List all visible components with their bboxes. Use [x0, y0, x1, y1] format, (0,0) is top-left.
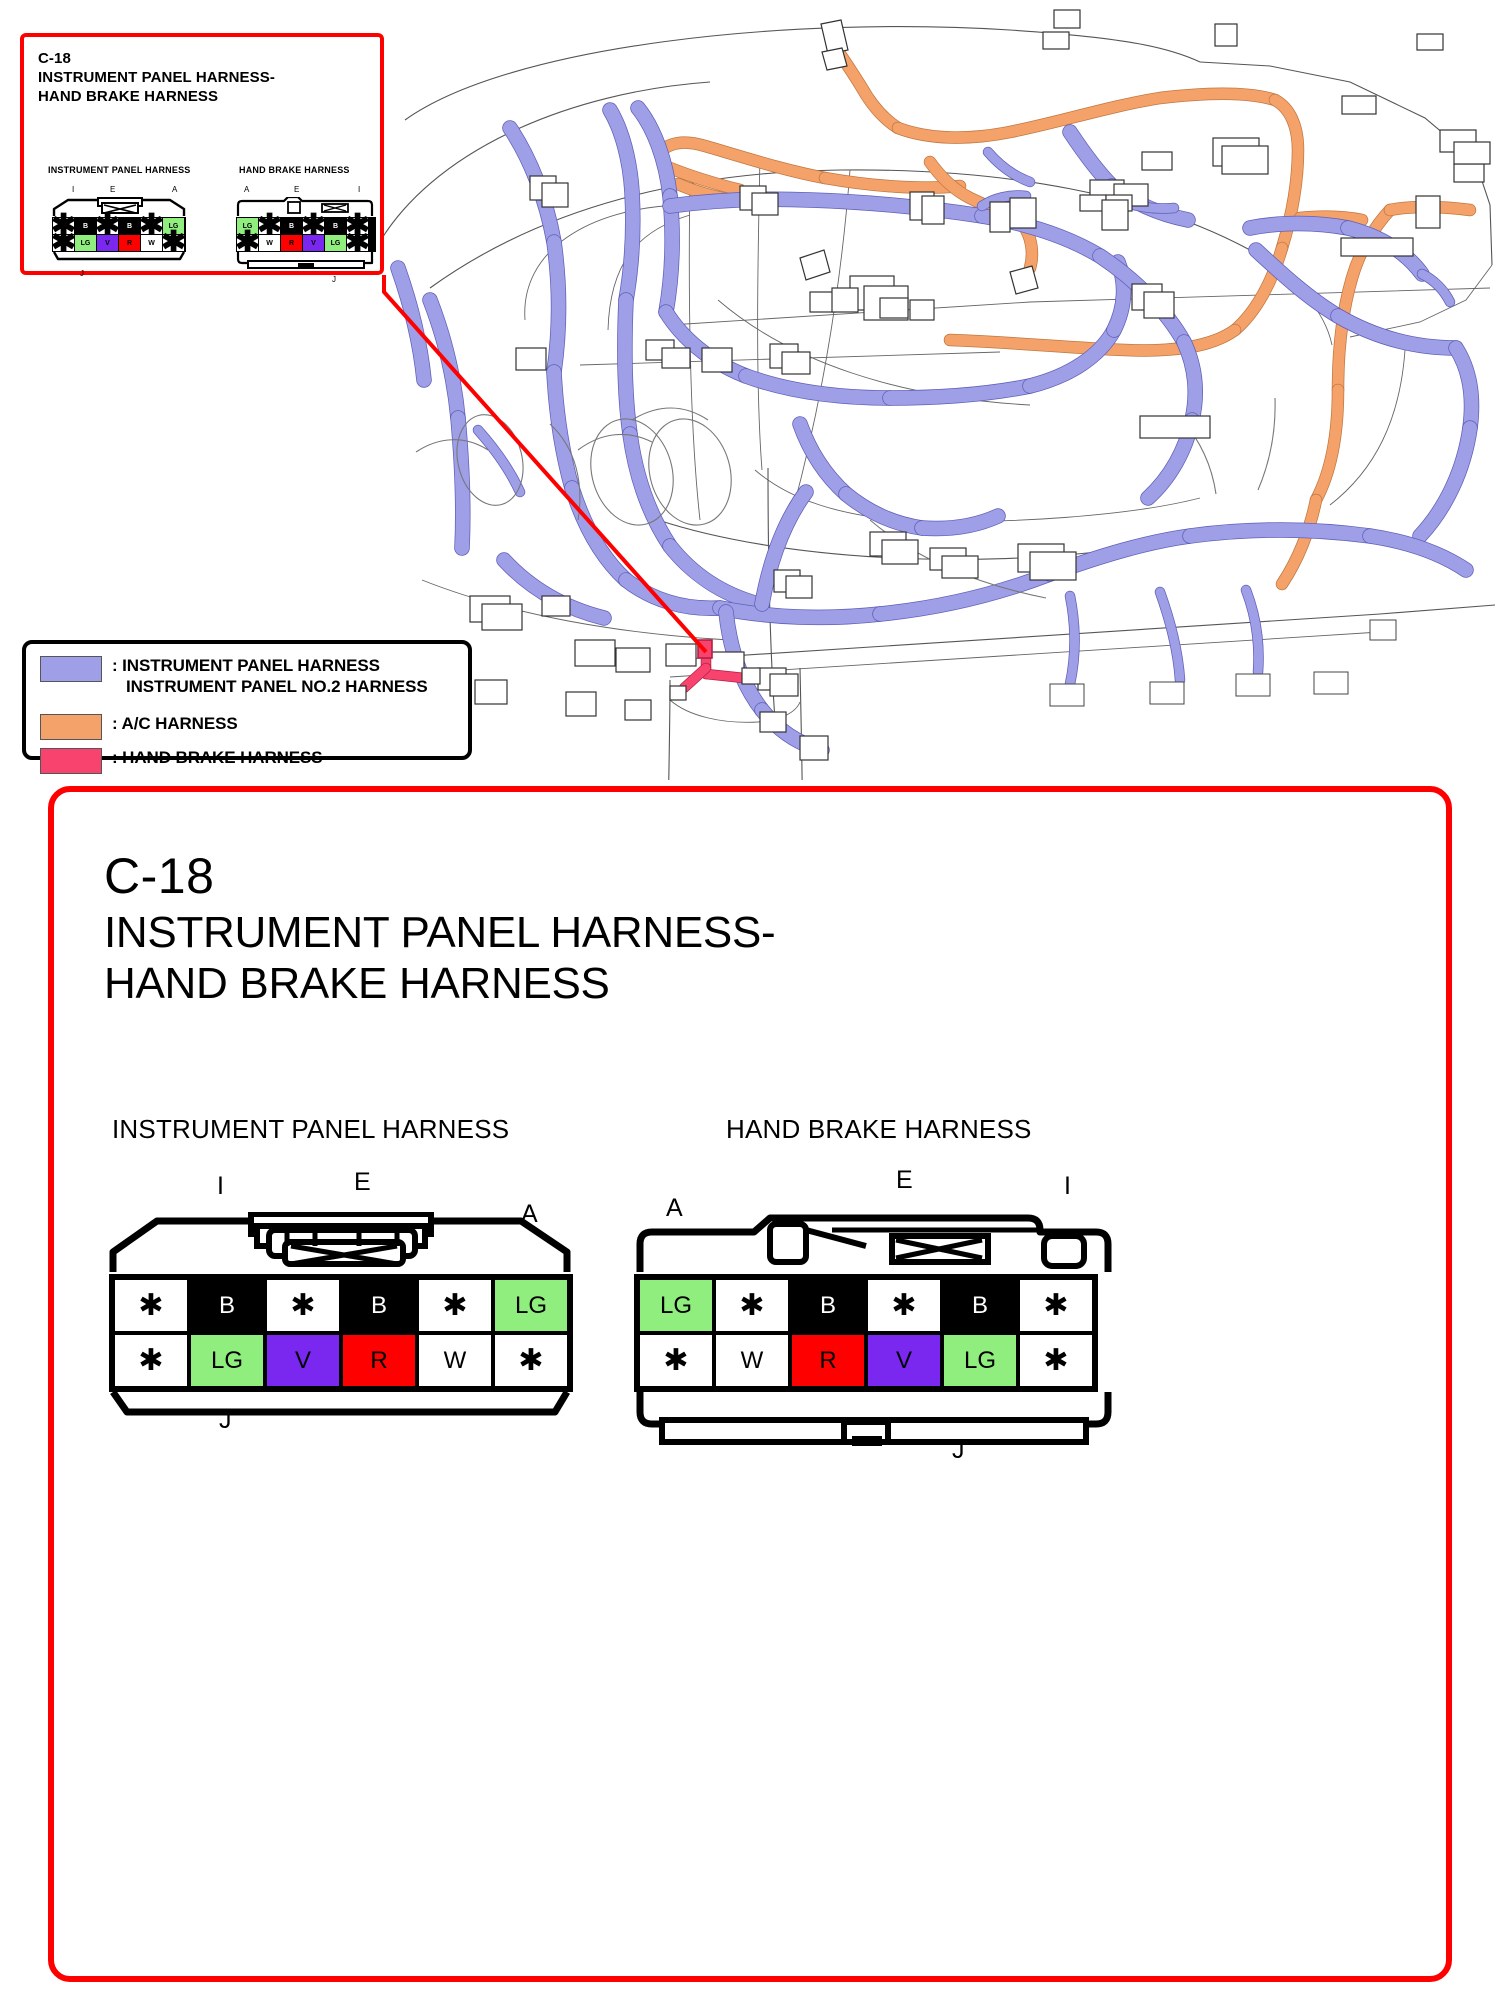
legend-label-instrument-panel: : INSTRUMENT PANEL HARNESS INSTRUMENT PA… [112, 656, 428, 697]
legend-swatch-ac [40, 714, 102, 740]
hb-pin-r2-c1: ✱ [638, 1333, 714, 1388]
mini-hb-pin-r2-c5: LG [325, 235, 346, 251]
main-title-block: INSTRUMENT PANEL HARNESS- HAND BRAKE HAR… [104, 907, 775, 1010]
ip-label-J: J [219, 1408, 232, 1433]
connector-hand-brake-harness: A E I LG✱B✱B✱✱WRVLG✱ J [634, 1212, 1114, 1450]
ip-pin-r2-c6: ✱ [493, 1333, 569, 1388]
ip-pin-grid: ✱B✱B✱LG✱LGVRW✱ [109, 1274, 573, 1392]
ip-pin-r2-c4: R [341, 1333, 417, 1388]
mini-hb-pin-r2-c6: ✱ [347, 235, 368, 251]
main-title-line2: HAND BRAKE HARNESS [104, 959, 610, 1008]
main-connector-code: C-18 [104, 847, 214, 905]
inset-connector-code: C-18 [38, 49, 275, 68]
legend-swatch-instrument-panel [40, 656, 102, 682]
hb-pin-r1-c3: B [790, 1278, 866, 1333]
main-subtitle-instrument-panel: INSTRUMENT PANEL HARNESS [112, 1114, 509, 1145]
mini-ip-label-J: J [80, 269, 84, 278]
hb-pin-r2-c2: W [714, 1333, 790, 1388]
mini-ip-pin-r2-c2: LG [75, 235, 96, 251]
hb-pin-r2-c6: ✱ [1018, 1333, 1094, 1388]
main-subtitle-hand-brake: HAND BRAKE HARNESS [726, 1114, 1032, 1145]
mini-ip-pin-r2-c5: W [141, 235, 162, 251]
ip-shell-bottom [109, 1392, 573, 1418]
ip-shell-top [109, 1212, 573, 1274]
mini-ip-pin-grid: ✱B✱B✱LG✱LGVRW✱ [52, 217, 186, 252]
mini-hb-pin-r1-c5: B [325, 218, 346, 234]
mini-ip-label-E: E [110, 185, 115, 194]
mini-ip-pin-r2-c6: ✱ [163, 235, 184, 251]
ip-pin-r1-c5: ✱ [417, 1278, 493, 1333]
mini-hb-pin-r2-c3: R [281, 235, 302, 251]
hb-label-I: I [1064, 1174, 1071, 1199]
mini-ip-label-A: A [172, 185, 177, 194]
hb-pin-r2-c5: LG [942, 1333, 1018, 1388]
mini-hb-pin-r1-c4: ✱ [303, 218, 324, 234]
legend-label-ac: : A/C HARNESS [112, 714, 238, 735]
ip-label-E: E [354, 1170, 371, 1195]
mini-hb-label-J: J [332, 275, 336, 284]
legend-swatch-hand-brake [40, 748, 102, 774]
ip-pin-r1-c6: LG [493, 1278, 569, 1333]
ip-pin-r2-c2: LG [189, 1333, 265, 1388]
ip-pin-r1-c3: ✱ [265, 1278, 341, 1333]
mini-ip-label-I: I [72, 185, 74, 194]
mini-ip-pin-r2-c3: V [97, 235, 118, 251]
mini-hb-label-E: E [294, 185, 299, 194]
main-title-line1: INSTRUMENT PANEL HARNESS- [104, 908, 775, 957]
ip-pin-r1-c2: B [189, 1278, 265, 1333]
mini-ip-pin-r1-c3: ✱ [97, 218, 118, 234]
mini-hb-shell-bottom [236, 252, 376, 270]
mini-ip-pin-r1-c5: ✱ [141, 218, 162, 234]
mini-ip-pin-r2-c1: ✱ [53, 235, 74, 251]
hb-pin-r1-c4: ✱ [866, 1278, 942, 1333]
mini-ip-shell-bottom [52, 252, 186, 261]
hb-label-J: J [952, 1438, 965, 1463]
callout-inset-box: C-18 INSTRUMENT PANEL HARNESS- HAND BRAK… [20, 33, 384, 275]
mini-hb-label-I: I [358, 185, 360, 194]
hb-label-A: A [666, 1196, 683, 1221]
mini-hb-pin-r2-c4: V [303, 235, 324, 251]
hb-pin-grid: LG✱B✱B✱✱WRVLG✱ [634, 1274, 1098, 1392]
legend-label-hand-brake: : HAND BRAKE HARNESS [112, 748, 323, 769]
hb-pin-r1-c1: LG [638, 1278, 714, 1333]
mini-hb-pin-r2-c2: W [259, 235, 280, 251]
ip-pin-r2-c5: W [417, 1333, 493, 1388]
harness-illustration: .bodyline{ fill:none; stroke:#555; strok… [370, 0, 1499, 780]
mini-hb-pin-r2-c1: ✱ [237, 235, 258, 251]
connector-instrument-panel-harness: I E A ✱B✱B✱LG✱LGVRW✱ J [109, 1212, 573, 1418]
mini-ip-pin-r1-c4: B [119, 218, 140, 234]
legend-item-ac: : A/C HARNESS [40, 714, 238, 740]
mini-hb-pin-r1-c3: B [281, 218, 302, 234]
mini-hb-pin-grid: LG✱B✱B✱✱WRVLG✱ [236, 217, 376, 252]
hb-pin-r1-c6: ✱ [1018, 1278, 1094, 1333]
legend-label-ip-line1: : INSTRUMENT PANEL HARNESS [112, 656, 380, 675]
hb-pin-r2-c3: R [790, 1333, 866, 1388]
ip-pin-r1-c1: ✱ [113, 1278, 189, 1333]
inset-title-line2: HAND BRAKE HARNESS [38, 88, 218, 105]
hb-label-E: E [896, 1168, 913, 1193]
inset-title-line1: INSTRUMENT PANEL HARNESS- [38, 69, 275, 86]
legend-item-instrument-panel: : INSTRUMENT PANEL HARNESS INSTRUMENT PA… [40, 656, 428, 697]
ip-label-A: A [521, 1202, 538, 1227]
hb-shell-bottom [634, 1392, 1114, 1450]
legend-label-ip-line2: INSTRUMENT PANEL NO.2 HARNESS [126, 677, 428, 698]
ip-label-I: I [217, 1174, 224, 1199]
mini-hb-pin-r1-c2: ✱ [259, 218, 280, 234]
ip-pin-r2-c1: ✱ [113, 1333, 189, 1388]
inset-title-block: C-18 INSTRUMENT PANEL HARNESS- HAND BRAK… [38, 49, 275, 107]
main-detail-box: C-18 INSTRUMENT PANEL HARNESS- HAND BRAK… [48, 786, 1452, 1982]
inset-subtitle-instrument-panel: INSTRUMENT PANEL HARNESS [48, 165, 190, 175]
hb-pin-r2-c4: V [866, 1333, 942, 1388]
legend: : INSTRUMENT PANEL HARNESS INSTRUMENT PA… [22, 640, 472, 760]
hb-pin-r1-c5: B [942, 1278, 1018, 1333]
ip-pin-r2-c3: V [265, 1333, 341, 1388]
mini-connector-instrument-panel: I E A ✱B✱B✱LG✱LGVRW✱ J [52, 197, 186, 261]
hb-shell-top [634, 1212, 1114, 1274]
legend-item-hand-brake: : HAND BRAKE HARNESS [40, 748, 323, 774]
inset-subtitle-hand-brake: HAND BRAKE HARNESS [239, 165, 350, 175]
mini-ip-pin-r2-c4: R [119, 235, 140, 251]
mini-hb-label-A: A [244, 185, 249, 194]
ip-pin-r1-c4: B [341, 1278, 417, 1333]
hb-pin-r1-c2: ✱ [714, 1278, 790, 1333]
mini-ip-pin-r1-c2: B [75, 218, 96, 234]
mini-connector-hand-brake: A E I LG✱B✱B✱✱WRVLG✱ J [236, 197, 376, 270]
